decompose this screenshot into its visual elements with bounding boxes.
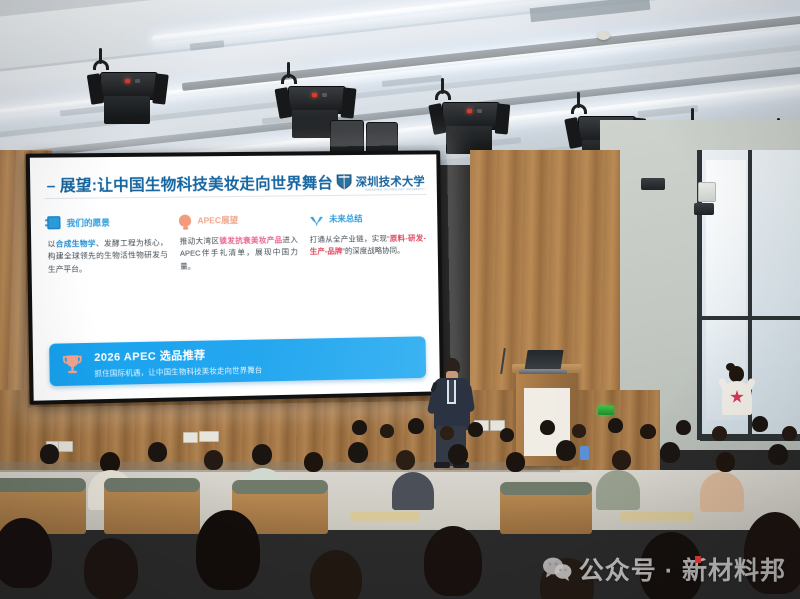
highlight-text: 锁发抗衰美妆产品	[219, 235, 282, 245]
trophy-icon	[62, 353, 84, 376]
slide-columns: 我们的愿景 以合成生物学、发酵工程为核心，构建全球领先的生物活性物研发与生产平台…	[47, 212, 426, 276]
wall-speaker	[641, 178, 665, 190]
wall-speaker	[694, 203, 714, 215]
slide-column: 我们的愿景 以合成生物学、发酵工程为核心，构建全球领先的生物活性物研发与生产平台…	[47, 215, 168, 276]
column-body: 推动大湾区锁发抗衰美妆产品进入APEC伴手礼清单，展现中国力量。	[180, 234, 299, 273]
presentation-slide: –展望:让中国生物科技美妆走向世界舞台 深圳技术大学 SHENZHEN TECH…	[30, 154, 440, 400]
banner-subtitle: 抓住国际机遇，让中国生物科技美妆走向世界舞台	[94, 364, 262, 379]
title-text: 展望:让中国生物科技美妆走向世界舞台	[60, 175, 333, 195]
presenter-laptop	[524, 350, 563, 371]
university-name: 深圳技术大学	[356, 173, 426, 190]
lightbulb-icon	[179, 215, 191, 227]
university-name-en: SHENZHEN TECHNOLOGY UNIVERSITY	[365, 188, 425, 192]
shield-icon	[336, 173, 353, 190]
slide-column: 未来总结 打通从全产业链，实现“原料-研发-生产-品牌”的深度战略协同。	[309, 212, 426, 272]
column-title: 我们的愿景	[67, 216, 110, 229]
bird-icon	[309, 213, 323, 224]
column-title: APEC展望	[197, 214, 238, 227]
highlight-text: 合成生物学	[56, 239, 96, 249]
column-title: 未来总结	[329, 213, 363, 225]
banner-title: 2026 APEC 选品推荐	[94, 346, 262, 366]
apec-banner: 2026 APEC 选品推荐 抓住国际机遇，让中国生物科技美妆走向世界舞台	[49, 336, 426, 386]
slide-title: –展望:让中国生物科技美妆走向世界舞台	[46, 171, 333, 196]
column-body: 以合成生物学、发酵工程为核心，构建全球领先的生物活性物研发与生产平台。	[47, 237, 168, 276]
chip-icon	[47, 216, 60, 229]
column-body: 打通从全产业链，实现“原料-研发-生产-品牌”的深度战略协同。	[310, 233, 427, 259]
projection-screen: –展望:让中国生物科技美妆走向世界舞台 深圳技术大学 SHENZHEN TECH…	[26, 150, 444, 405]
slide-column: APEC展望 推动大湾区锁发抗衰美妆产品进入APEC伴手礼清单，展现中国力量。	[179, 213, 298, 274]
title-dash: –	[47, 178, 56, 195]
audience-foreground	[0, 492, 800, 599]
phone-screen	[580, 446, 589, 460]
lecture-hall-photo: –展望:让中国生物科技美妆走向世界舞台 深圳技术大学 SHENZHEN TECH…	[0, 0, 800, 599]
